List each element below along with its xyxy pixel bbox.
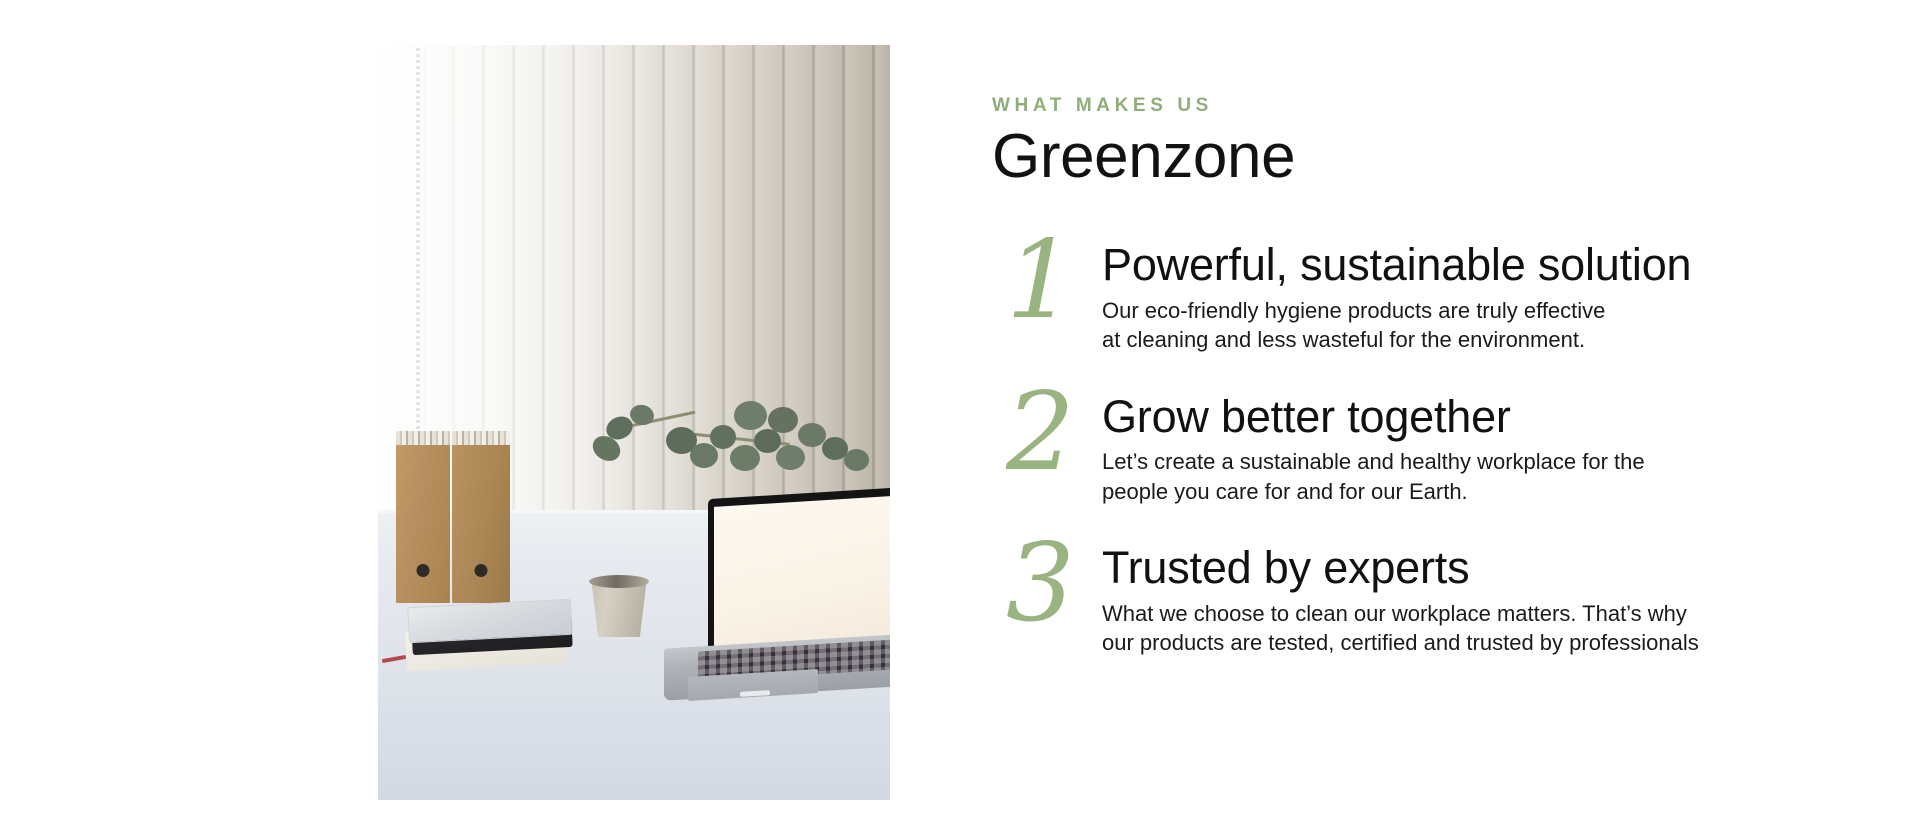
item-title-2: Grow better together <box>1102 393 1872 441</box>
page-root: WHAT MAKES US Greenzone 1 Powerful, sust… <box>0 0 1920 840</box>
magazine-file-right <box>452 443 510 603</box>
item-body-2: Grow better together Let’s create a sust… <box>1102 389 1872 506</box>
list-item: 1 Powerful, sustainable solution Our eco… <box>992 237 1872 354</box>
magazine-file-right-papers <box>452 431 510 445</box>
item-body-1: Powerful, sustainable solution Our eco-f… <box>1102 237 1872 354</box>
hero-photo <box>378 45 890 800</box>
magazine-file-left-hole <box>417 564 430 577</box>
item-number-3: 3 <box>992 534 1102 633</box>
item-number-2: 2 <box>992 383 1102 482</box>
item-number-1: 1 <box>992 231 1102 330</box>
item-description-3: What we choose to clean our workplace ma… <box>1102 599 1872 658</box>
pull-chain-icon <box>416 45 420 465</box>
list-item: 2 Grow better together Let’s create a su… <box>992 389 1872 506</box>
laptop-screen <box>714 495 890 647</box>
item-description-1: Our eco-friendly hygiene products are tr… <box>1102 296 1872 355</box>
magazine-file-left-papers <box>396 431 450 445</box>
ceramic-planter-rim <box>589 575 649 588</box>
item-description-2: Let’s create a sustainable and healthy w… <box>1102 447 1872 506</box>
list-item: 3 Trusted by experts What we choose to c… <box>992 540 1872 657</box>
magazine-file-right-hole <box>475 564 488 577</box>
item-title-3: Trusted by experts <box>1102 544 1872 592</box>
magazine-file-left <box>396 443 450 603</box>
item-title-1: Powerful, sustainable solution <box>1102 241 1872 289</box>
item-body-3: Trusted by experts What we choose to cle… <box>1102 540 1872 657</box>
page-title: Greenzone <box>992 125 1872 189</box>
eyebrow-label: WHAT MAKES US <box>992 96 1872 115</box>
content-column: WHAT MAKES US Greenzone 1 Powerful, sust… <box>992 96 1872 657</box>
benefits-list: 1 Powerful, sustainable solution Our eco… <box>992 237 1872 657</box>
